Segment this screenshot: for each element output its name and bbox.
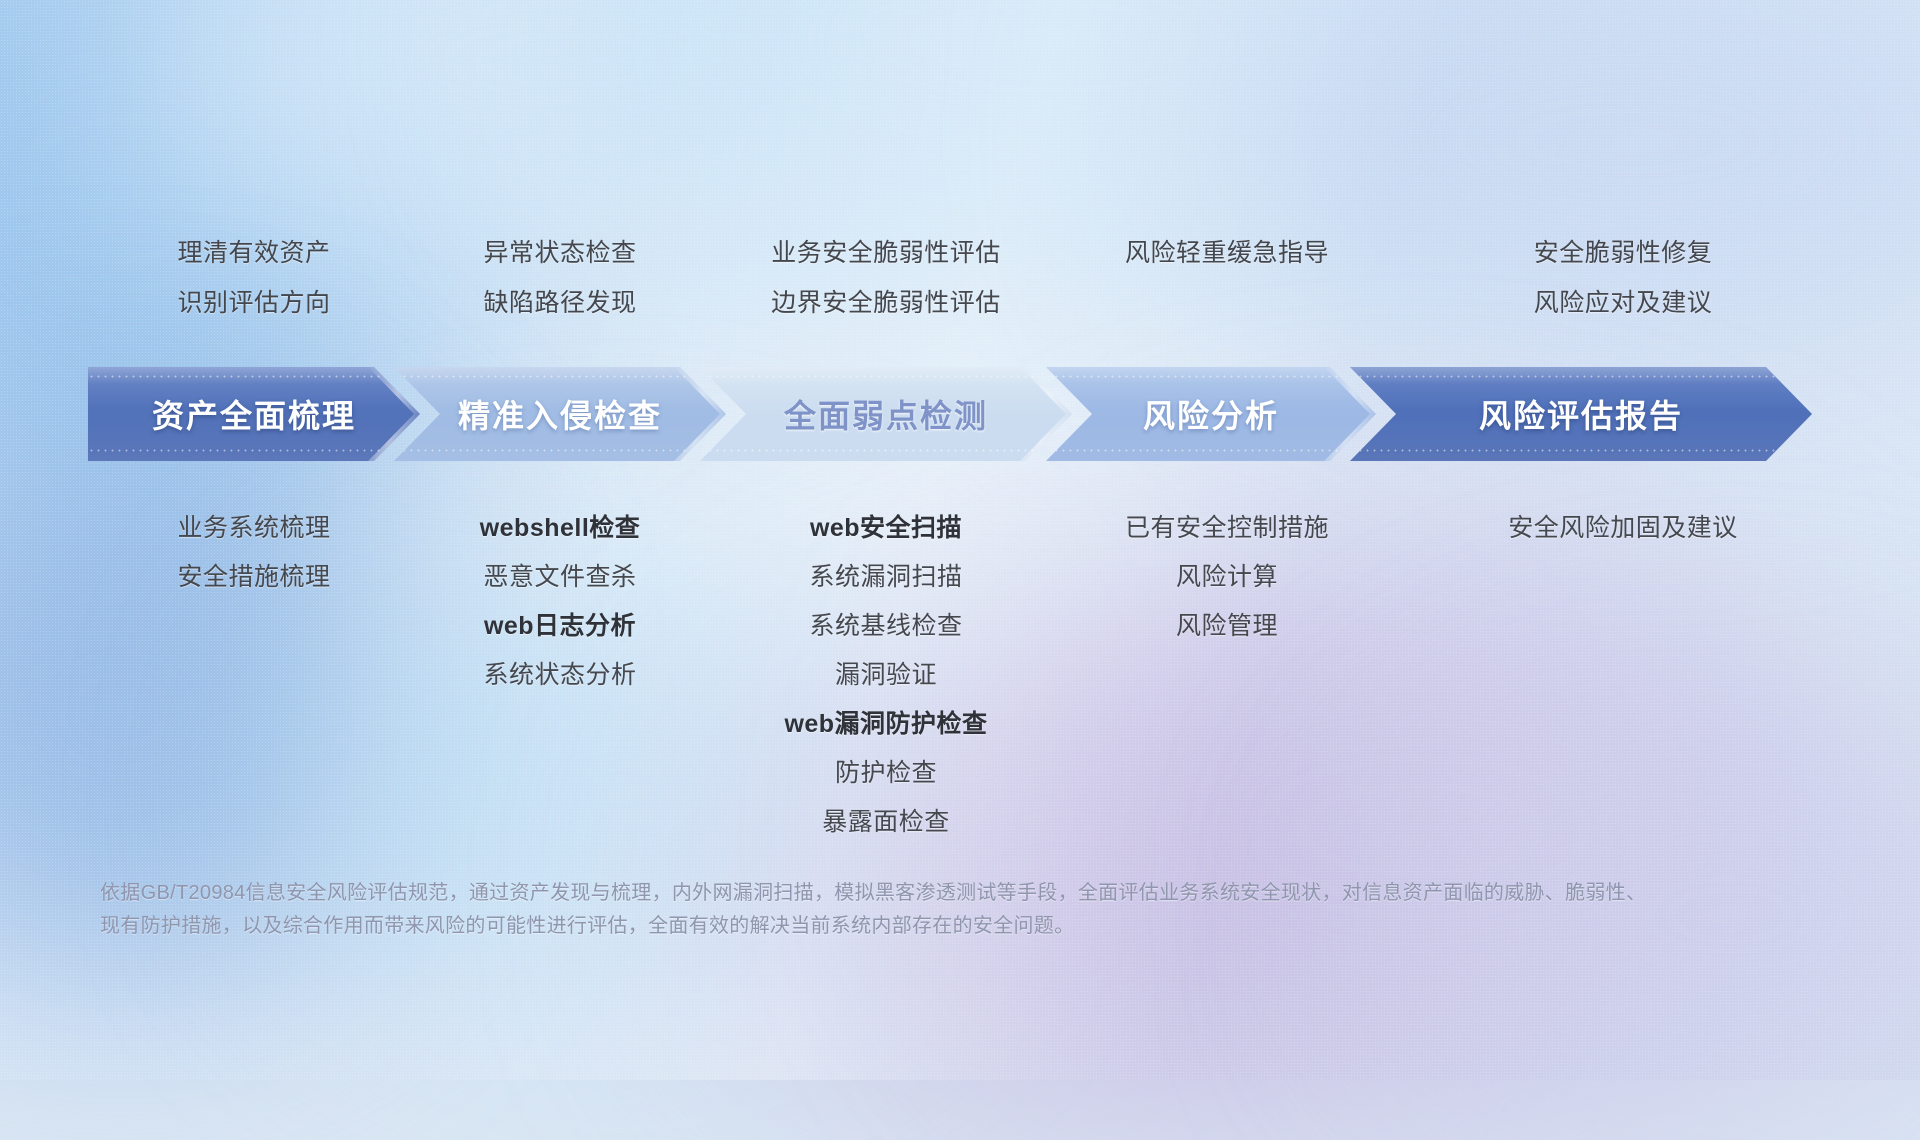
- bottom-detail-column-3: web安全扫描系统漏洞扫描系统基线检查漏洞验证web漏洞防护检查防护检查暴露面检…: [700, 504, 1072, 847]
- process-step-label: 风险评估报告: [1479, 391, 1683, 437]
- top-annotation-item: 安全脆弱性修复: [1534, 228, 1713, 278]
- chevron-dot-texture-top: [700, 373, 1072, 381]
- chevron-dot-texture-top: [394, 373, 726, 381]
- bottom-detail-column-5: 安全风险加固及建议: [1392, 504, 1854, 553]
- bottom-detail-item: 恶意文件查杀: [483, 553, 636, 602]
- chevron-dot-texture-bottom: [1350, 447, 1812, 455]
- bottom-detail-item: 漏洞验证: [835, 651, 937, 700]
- bottom-detail-item: 业务系统梳理: [177, 504, 330, 553]
- bottom-detail-column-1: 业务系统梳理安全措施梳理: [88, 504, 420, 602]
- process-step-label: 资产全面梳理: [152, 391, 356, 437]
- process-step-4[interactable]: 风险分析: [1046, 367, 1376, 461]
- chevron-dot-texture-top: [1350, 373, 1812, 381]
- top-annotation-item: 理清有效资产: [177, 228, 330, 278]
- bottom-detail-item: 风险管理: [1176, 602, 1278, 651]
- bottom-detail-item: 系统基线检查: [809, 602, 962, 651]
- top-annotation-item: 异常状态检查: [483, 228, 636, 278]
- bottom-detail-column-4: 已有安全控制措施风险计算风险管理: [1062, 504, 1392, 651]
- bottom-detail-item: 安全措施梳理: [177, 553, 330, 602]
- top-annotation-item: 边界安全脆弱性评估: [771, 278, 1001, 328]
- process-chevron-band: 资产全面梳理精准入侵检查全面弱点检测风险分析风险评估报告: [88, 367, 1854, 461]
- bottom-detail-item: 暴露面检查: [822, 798, 950, 847]
- top-annotation-column-2: 异常状态检查缺陷路径发现: [394, 228, 726, 328]
- top-annotation-item: 风险应对及建议: [1534, 278, 1713, 328]
- bottom-detail-item: 安全风险加固及建议: [1508, 504, 1738, 553]
- process-step-5[interactable]: 风险评估报告: [1350, 367, 1812, 461]
- chevron-dot-texture-bottom: [700, 447, 1072, 455]
- top-annotation-item: 业务安全脆弱性评估: [771, 228, 1001, 278]
- top-annotation-column-1: 理清有效资产识别评估方向: [88, 228, 420, 328]
- bottom-detail-item: webshell检查: [480, 504, 641, 553]
- process-step-label: 全面弱点检测: [784, 391, 988, 437]
- top-annotation-item: 识别评估方向: [177, 278, 330, 328]
- process-step-label: 风险分析: [1143, 391, 1279, 437]
- bottom-detail-item: 系统状态分析: [483, 651, 636, 700]
- process-diagram: 理清有效资产识别评估方向异常状态检查缺陷路径发现业务安全脆弱性评估边界安全脆弱性…: [0, 0, 1920, 1080]
- chevron-dot-texture-top: [1046, 373, 1376, 381]
- chevron-dot-texture-bottom: [88, 447, 420, 455]
- footer-description: 依据GB/T20984信息安全风险评估规范，通过资产发现与梳理，内外网漏洞扫描，…: [100, 877, 1660, 943]
- bottom-detail-item: 已有安全控制措施: [1125, 504, 1329, 553]
- top-annotation-item: 缺陷路径发现: [483, 278, 636, 328]
- bottom-detail-item: 系统漏洞扫描: [809, 553, 962, 602]
- top-annotation-column-4: 风险轻重缓急指导: [1062, 228, 1392, 278]
- bottom-detail-item: web安全扫描: [810, 504, 962, 553]
- chevron-dot-texture-bottom: [394, 447, 726, 455]
- bottom-detail-column-2: webshell检查恶意文件查杀web日志分析系统状态分析: [394, 504, 726, 700]
- process-step-3[interactable]: 全面弱点检测: [700, 367, 1072, 461]
- top-annotation-item: 风险轻重缓急指导: [1125, 228, 1329, 278]
- top-annotation-column-5: 安全脆弱性修复风险应对及建议: [1392, 228, 1854, 328]
- bottom-detail-item: web漏洞防护检查: [784, 700, 987, 749]
- bottom-detail-item: web日志分析: [484, 602, 636, 651]
- chevron-dot-texture-bottom: [1046, 447, 1376, 455]
- chevron-dot-texture-top: [88, 373, 420, 381]
- bottom-detail-item: 风险计算: [1176, 553, 1278, 602]
- process-step-2[interactable]: 精准入侵检查: [394, 367, 726, 461]
- process-step-label: 精准入侵检查: [458, 391, 662, 437]
- top-annotation-column-3: 业务安全脆弱性评估边界安全脆弱性评估: [700, 228, 1072, 328]
- bottom-detail-item: 防护检查: [835, 749, 937, 798]
- process-step-1[interactable]: 资产全面梳理: [88, 367, 420, 461]
